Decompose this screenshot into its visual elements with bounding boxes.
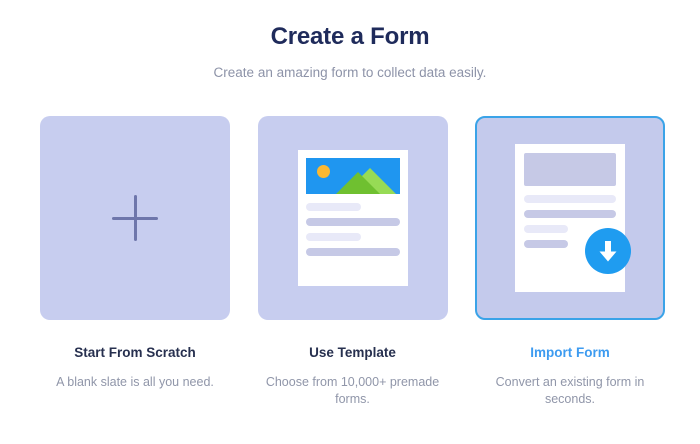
option-start-from-scratch[interactable]: Start From Scratch A blank slate is all … (40, 116, 230, 391)
document-with-image-icon (298, 150, 408, 286)
document-header-block (524, 153, 616, 186)
option-use-template[interactable]: Use Template Choose from 10,000+ premade… (258, 116, 448, 408)
text-line (524, 225, 568, 233)
option-title-use-template: Use Template (309, 344, 396, 362)
document-download-icon (515, 144, 625, 292)
option-description-import-form: Convert an existing form in seconds. (477, 374, 663, 408)
page-title: Create a Form (0, 22, 700, 52)
form-creation-options: Start From Scratch A blank slate is all … (40, 116, 665, 408)
sun-shape (317, 165, 330, 178)
option-title-start-from-scratch: Start From Scratch (74, 344, 196, 362)
text-line (306, 218, 400, 226)
use-template-card[interactable] (258, 116, 448, 320)
page-subtitle: Create an amazing form to collect data e… (0, 64, 700, 82)
text-line (306, 248, 400, 256)
option-import-form[interactable]: Import Form Convert an existing form in … (475, 116, 665, 408)
text-line (524, 210, 616, 218)
text-line (306, 233, 361, 241)
create-form-page: Create a Form Create an amazing form to … (0, 0, 700, 444)
page-header: Create a Form Create an amazing form to … (0, 22, 700, 82)
text-line (524, 195, 616, 203)
text-line (306, 203, 361, 211)
option-description-use-template: Choose from 10,000+ premade forms. (260, 374, 446, 408)
import-form-card[interactable] (475, 116, 665, 320)
option-description-start-from-scratch: A blank slate is all you need. (42, 374, 228, 391)
mountain-front-shape (336, 172, 380, 194)
template-text-lines (306, 203, 400, 256)
plus-icon (112, 195, 158, 241)
picture-placeholder-icon (306, 158, 400, 194)
option-title-import-form: Import Form (530, 344, 610, 362)
text-line (524, 240, 568, 248)
start-from-scratch-card[interactable] (40, 116, 230, 320)
download-arrow-icon (585, 228, 631, 274)
